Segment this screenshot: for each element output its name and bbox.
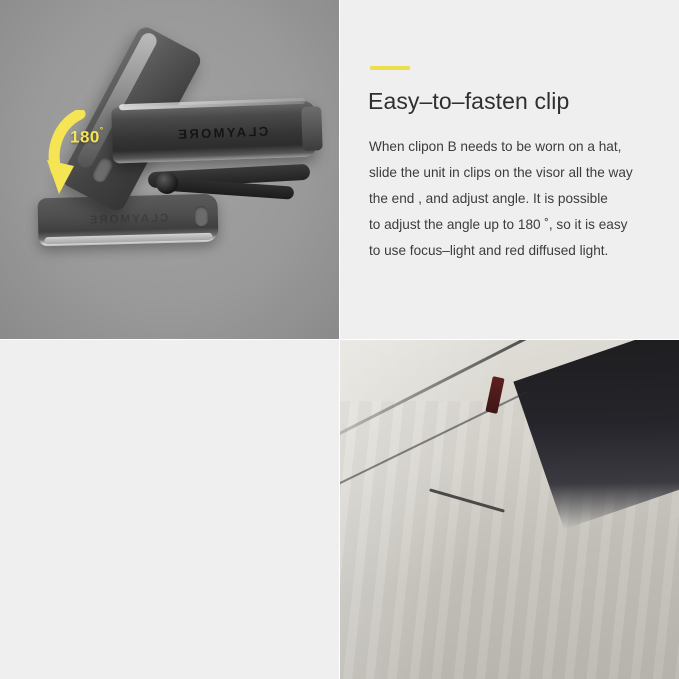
panel-easy-to-fasten-clip: Easy–to–fasten clip When clipon B needs … [340,0,679,339]
body-line: to use focus–light and red diffused ligh… [369,244,633,259]
panel-tent-photo: CLAYMORE CLAYMORE [340,340,679,679]
brand-label-base: CLAYMORE [87,212,168,226]
clip-light-top-unit: CLAYMORE [111,100,317,163]
body-line: to adjust the angle up to 180 ˚, so it i… [369,218,633,233]
brand-label-top: CLAYMORE [176,124,269,142]
heading-easy-to-fasten-clip: Easy–to–fasten clip [368,88,569,115]
rotation-arrow-icon [46,110,112,202]
product-stage: CLAYMORE CLAYMORE 180˚ [0,0,339,339]
product-infographic: CLAYMORE CLAYMORE 180˚ [0,0,679,679]
base-notch [195,206,209,226]
panel-carabiner-ring: Carabiner ring For convenience, use a ca… [0,340,339,679]
body-easy-to-fasten-clip: When clipon B needs to be worn on a hat,… [369,140,633,270]
accent-rule-easy-clip [370,66,410,70]
base-lens-strip [44,233,212,244]
rotation-angle-value: 180 [70,128,100,147]
rotation-angle-label: 180˚ [70,127,104,148]
top-unit-end-cap [301,106,323,151]
body-line: slide the unit in clips on the visor all… [369,166,633,181]
clip-pivot-hinge [156,172,178,194]
body-line: When clipon B needs to be worn on a hat, [369,140,633,155]
panel-product-render: CLAYMORE CLAYMORE 180˚ [0,0,339,339]
body-line: the end , and adjust angle. It is possib… [369,192,633,207]
degree-symbol: ˚ [100,127,104,139]
